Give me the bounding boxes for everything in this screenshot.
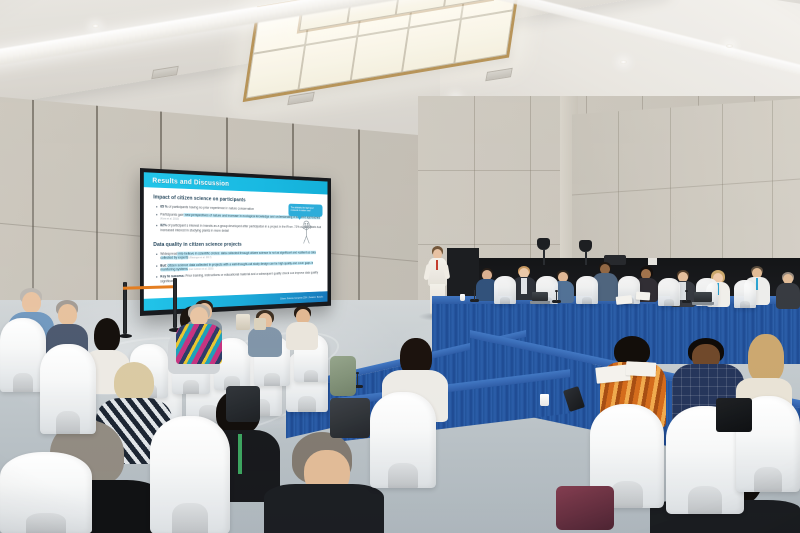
downlight-icon xyxy=(620,60,627,64)
audience-member-seated xyxy=(286,306,318,348)
bullet-citation: (Koss et al. 2010) xyxy=(160,218,179,221)
bullet-body: mis-believe in scientific circles: data … xyxy=(160,251,316,261)
slide-title: Results and Discussion xyxy=(152,176,229,188)
panelist xyxy=(776,272,800,312)
cup xyxy=(460,294,465,301)
bullet-body: Prior training, instructions or educatio… xyxy=(160,271,318,283)
bottle xyxy=(236,314,250,330)
bullet-lead: But: xyxy=(160,263,166,267)
chair xyxy=(494,276,516,304)
bullet-text: Widespread mis-believe in scientific cir… xyxy=(160,251,321,261)
laptop xyxy=(692,292,714,305)
chair xyxy=(40,344,96,434)
conference-room-photo: Results and Discussion Impact of citizen… xyxy=(0,0,800,533)
chair xyxy=(370,392,436,488)
chair xyxy=(0,452,92,533)
microphone xyxy=(552,290,562,303)
backpack xyxy=(226,386,260,422)
microphone xyxy=(470,288,480,302)
backpack xyxy=(330,398,370,438)
paper-on-backdrop xyxy=(648,258,657,265)
speech-bubble-text: The definitely the high-level moments in… xyxy=(291,206,321,212)
handbag xyxy=(716,398,752,432)
chair xyxy=(734,280,756,308)
bullet-lead: 65 % xyxy=(160,204,167,208)
bullet-text: 65 % of participants having no prior exp… xyxy=(160,204,254,212)
slide-section-heading-2: Data quality in citizen science projects xyxy=(153,242,321,248)
laptop xyxy=(530,292,550,304)
tote-bag xyxy=(330,356,356,396)
bullet-citation: (van Colmen et al. 2020) xyxy=(189,268,214,271)
bullet-text: Key to success: Prior training, instruct… xyxy=(160,271,321,284)
cup xyxy=(540,394,549,406)
audience-member-seated xyxy=(176,304,222,362)
stick-figure-icon xyxy=(298,220,314,245)
bullet-dot-icon: • xyxy=(156,252,157,261)
box-item xyxy=(254,318,266,330)
bullet-body: of participant s interest in insects as … xyxy=(160,224,321,233)
bullet-dot-icon: • xyxy=(156,263,157,272)
slide-bullet: • 82% of participant s interest in insec… xyxy=(153,223,321,233)
bullet-citation: (Rissinger et al. 2017) xyxy=(189,257,211,260)
chair xyxy=(576,276,598,304)
audience-member xyxy=(264,432,384,533)
bullet-dot-icon: • xyxy=(156,204,157,209)
slide-bullet: • Widespread mis-believe in scientific c… xyxy=(153,251,321,261)
handbag xyxy=(556,486,614,530)
paper-document xyxy=(626,361,657,377)
microphone xyxy=(682,290,692,303)
downlight-icon xyxy=(726,44,733,48)
paper-document xyxy=(636,292,651,301)
paper-document xyxy=(616,295,633,305)
light-stand xyxy=(578,240,594,264)
bullet-body: of participants having no prior experien… xyxy=(168,204,254,210)
chair xyxy=(150,416,230,533)
bullet-dot-icon: • xyxy=(156,275,157,284)
speech-bubble-icon: The definitely the high-level moments in… xyxy=(288,204,322,217)
chair xyxy=(658,278,680,306)
light-stand xyxy=(536,238,552,264)
bullet-dot-icon: • xyxy=(156,224,157,233)
slide-footer-note: Citizen Science Congress 2024 | Session:… xyxy=(280,295,323,300)
audience-member-seated xyxy=(248,310,282,354)
bullet-body: citizen science data collected in projec… xyxy=(160,261,313,272)
downlight-icon xyxy=(92,24,99,28)
bullet-lead: Participants gain xyxy=(160,212,184,216)
bullet-dot-icon: • xyxy=(156,212,157,221)
